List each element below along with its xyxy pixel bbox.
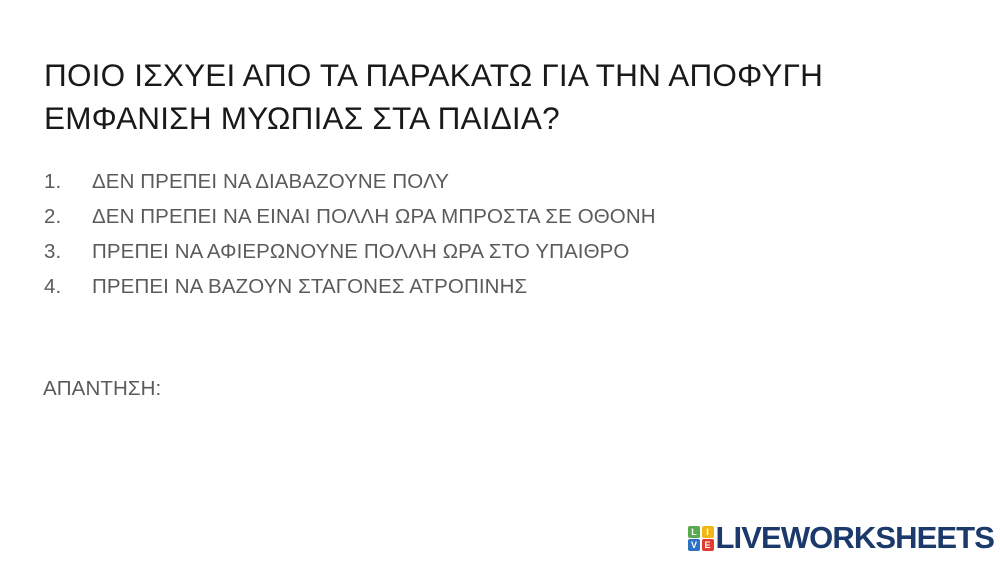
- logo-tile-v: V: [688, 539, 700, 551]
- list-item-number: 4.: [44, 275, 92, 299]
- title-line-2: ΕΜΦΑΝΙΣΗ ΜΥΩΠΙΑΣ ΣΤΑ ΠΑΙΔΙΑ?: [44, 97, 944, 140]
- list-item-number: 2.: [44, 205, 92, 229]
- logo-tile-l: L: [688, 526, 700, 538]
- page-title: ΠΟΙΟ ΙΣΧΥΕΙ ΑΠΟ ΤΑ ΠΑΡΑΚΑΤΩ ΓΙΑ ΤΗΝ ΑΠΟΦ…: [44, 54, 944, 140]
- list-item: 4. ΠΡΕΠΕΙ ΝΑ ΒΑΖΟΥΝ ΣΤΑΓΟΝΕΣ ΑΤΡΟΠΙΝΗΣ: [44, 275, 944, 310]
- list-item-label: ΠΡΕΠΕΙ ΝΑ ΑΦΙΕΡΩΝΟΥΝΕ ΠΟΛΛΗ ΩΡΑ ΣΤΟ ΥΠΑΙ…: [92, 240, 629, 264]
- list-item: 2. ΔΕΝ ΠΡΕΠΕΙ ΝΑ ΕΙΝΑΙ ΠΟΛΛΗ ΩΡΑ ΜΠΡΟΣΤΑ…: [44, 205, 944, 240]
- worksheet-slide: ΠΟΙΟ ΙΣΧΥΕΙ ΑΠΟ ΤΑ ΠΑΡΑΚΑΤΩ ΓΙΑ ΤΗΝ ΑΠΟΦ…: [0, 0, 1000, 562]
- title-line-1: ΠΟΙΟ ΙΣΧΥΕΙ ΑΠΟ ΤΑ ΠΑΡΑΚΑΤΩ ΓΙΑ ΤΗΝ ΑΠΟΦ…: [44, 54, 944, 97]
- logo-wordmark: LIVEWORKSHEETS: [716, 522, 994, 554]
- liveworksheets-logo: L I V E LIVEWORKSHEETS: [688, 520, 994, 556]
- list-item-number: 1.: [44, 170, 92, 194]
- list-item-label: ΠΡΕΠΕΙ ΝΑ ΒΑΖΟΥΝ ΣΤΑΓΟΝΕΣ ΑΤΡΟΠΙΝΗΣ: [92, 275, 527, 299]
- list-item-label: ΔΕΝ ΠΡΕΠΕΙ ΝΑ ΔΙΑΒΑΖΟΥΝΕ ΠΟΛΥ: [92, 170, 449, 194]
- list-item: 3. ΠΡΕΠΕΙ ΝΑ ΑΦΙΕΡΩΝΟΥΝΕ ΠΟΛΛΗ ΩΡΑ ΣΤΟ Υ…: [44, 240, 944, 275]
- logo-tile-i: I: [702, 526, 714, 538]
- options-list: 1. ΔΕΝ ΠΡΕΠΕΙ ΝΑ ΔΙΑΒΑΖΟΥΝΕ ΠΟΛΥ 2. ΔΕΝ …: [44, 170, 944, 310]
- logo-tile-e: E: [702, 539, 714, 551]
- list-item-number: 3.: [44, 240, 92, 264]
- list-item: 1. ΔΕΝ ΠΡΕΠΕΙ ΝΑ ΔΙΑΒΑΖΟΥΝΕ ΠΟΛΥ: [44, 170, 944, 205]
- logo-tiles: L I V E: [688, 526, 714, 552]
- answer-label: ΑΠΑΝΤΗΣΗ:: [43, 377, 161, 401]
- list-item-label: ΔΕΝ ΠΡΕΠΕΙ ΝΑ ΕΙΝΑΙ ΠΟΛΛΗ ΩΡΑ ΜΠΡΟΣΤΑ ΣΕ…: [92, 205, 656, 229]
